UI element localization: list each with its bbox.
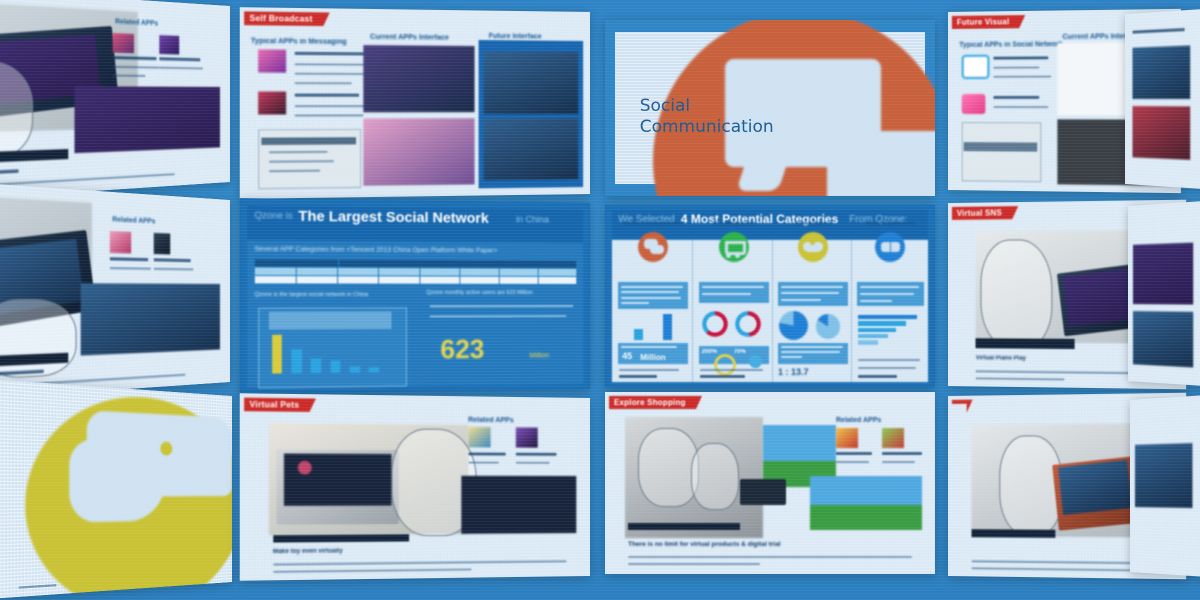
category-stat-2: 70% [734,349,746,355]
title-line-1: Social [640,96,774,117]
slide-heading-1: Typical APPs in Messaging [251,38,347,46]
slide-panel-top-left[interactable]: Related APPs [0,0,230,201]
slide-top-left-content: Related APPs [0,0,230,201]
slide-panel-3d-learning[interactable]: Virtual Pets Related APPs Make toy even … [240,393,590,580]
slide-tag: Self Broadcast [244,11,323,26]
slide-panel-mid-right-partial[interactable] [1128,197,1200,390]
category-title: Social Communication [615,221,691,227]
category-highlight-unit: Million [640,353,665,362]
slide-panel-self-broadcast[interactable]: Self Broadcast Typical APPs in Messaging… [240,7,590,199]
category-social-communication[interactable]: Social Communication 45 [615,221,691,381]
ratio-value: 1 : 13.7 [778,367,809,377]
slide-panel-virtual-mirror[interactable]: Related APPs [0,180,230,402]
horizontal-bar-chart [858,314,922,349]
slide-bottom-right-content [1130,391,1200,581]
page-title: Social Communication [640,96,774,139]
pie-chart-2 [816,314,840,338]
title-prefix: Qzone is [254,210,292,221]
slide-wall-scene: Related APPs Self Broadcast Typical APPs… [0,0,1200,600]
category-shopping-guide[interactable]: Shopping Guide 200% 70% [696,221,772,381]
category-social-games[interactable]: Social Games 1 : 13.7 [775,221,851,381]
title-suffix: in China [516,214,549,224]
category-stat [857,282,924,306]
person-sketch [999,435,1062,536]
category-title: Shopping Guide [696,221,772,227]
title-line-2: Communication [640,117,774,138]
shopping-cart-icon [719,232,749,262]
slide-panel-top-right-partial[interactable] [1125,5,1200,192]
page-title: The Largest Social Network [298,208,488,227]
donut-chart-1 [702,311,728,337]
slide-body: Social Communication [615,32,925,183]
open-book-icon [875,232,905,262]
slide-panel-social-communication[interactable]: Social Communication [605,20,935,196]
donut-chart-2 [735,311,761,337]
category-stat [778,282,848,306]
slide-section-label: Related APPs [836,417,881,424]
slide-panel-bottom-right-partial[interactable] [1130,391,1200,581]
category-stat [618,282,688,309]
table-row [254,276,576,284]
bullet-left: Qzone is the largest social network in C… [254,292,405,298]
gamepad-icon [798,232,828,262]
slide-heading-2: Current APPs Interface [370,33,449,41]
slide-panel-four-categories[interactable]: We Selected 4 Most Potential Categories … [605,205,935,387]
slide-mid-right-content [1128,197,1200,390]
slide-tag: Virtual Pets [244,398,310,412]
slide-tag: Explore Shopping [609,396,696,409]
person-sketch [980,239,1052,349]
person-sketch-child [691,443,739,511]
slide-heading-1: Typical APPs in Social Network [959,41,1063,49]
slide-largest-network-content: Qzone is The Largest Social Network in C… [240,198,590,394]
table-header-row [254,259,576,268]
category-title: Social Games [775,221,851,227]
slide-tag: Future Visual [952,15,1019,29]
big-number-unit: Million [530,352,550,359]
slide-3d-learning-content: Virtual Pets Related APPs Make toy even … [240,393,590,580]
slide-heading-3: Future Interface [489,33,542,41]
slide-social-games-cover-content [0,375,232,600]
category-highlight: 45 [622,351,632,361]
slide-self-broadcast-content: Self Broadcast Typical APPs in Messaging… [240,7,590,199]
slide-title: There is no limit for virtual products &… [628,541,780,548]
pie-chart-1 [779,311,808,340]
category-stat-1: 200% [702,349,717,355]
slide-title: Make toy even virtually [273,546,574,555]
category-study-education[interactable]: Study & Education [854,221,927,381]
category-title: Study & Education [854,221,927,227]
slide-tag: Virtual SNS [952,206,1012,220]
slide-virtual-mirror-content: Related APPs [0,180,230,402]
slide-virtual-pets-content: Explore Shopping Related APPs There is n… [605,392,935,574]
slide-tag [952,400,967,404]
bullet-right: Qzone monthly active users are 623 Milli… [426,290,576,296]
slide-panel-social-games-cover[interactable] [0,375,232,600]
slide-section-label: Related APPs [112,216,155,226]
slide-panel-largest-social-network[interactable]: Qzone is The Largest Social Network in C… [240,198,590,394]
slide-panel-virtual-pets[interactable]: Explore Shopping Related APPs There is n… [605,392,935,574]
slide-title: Virtual Piano Play [976,355,1026,362]
big-number: 623 [440,334,484,366]
category-stat [699,282,769,303]
slide-section-label: Related APPs [468,416,514,424]
slide-four-categories-content: We Selected 4 Most Potential Categories … [605,205,935,387]
slide-social-communication-content: Social Communication [605,20,935,196]
table-column-row [254,267,576,275]
slide-subtitle: Several APP Categories from <Tencent 201… [254,245,497,254]
slide-top-right-content [1125,5,1200,192]
